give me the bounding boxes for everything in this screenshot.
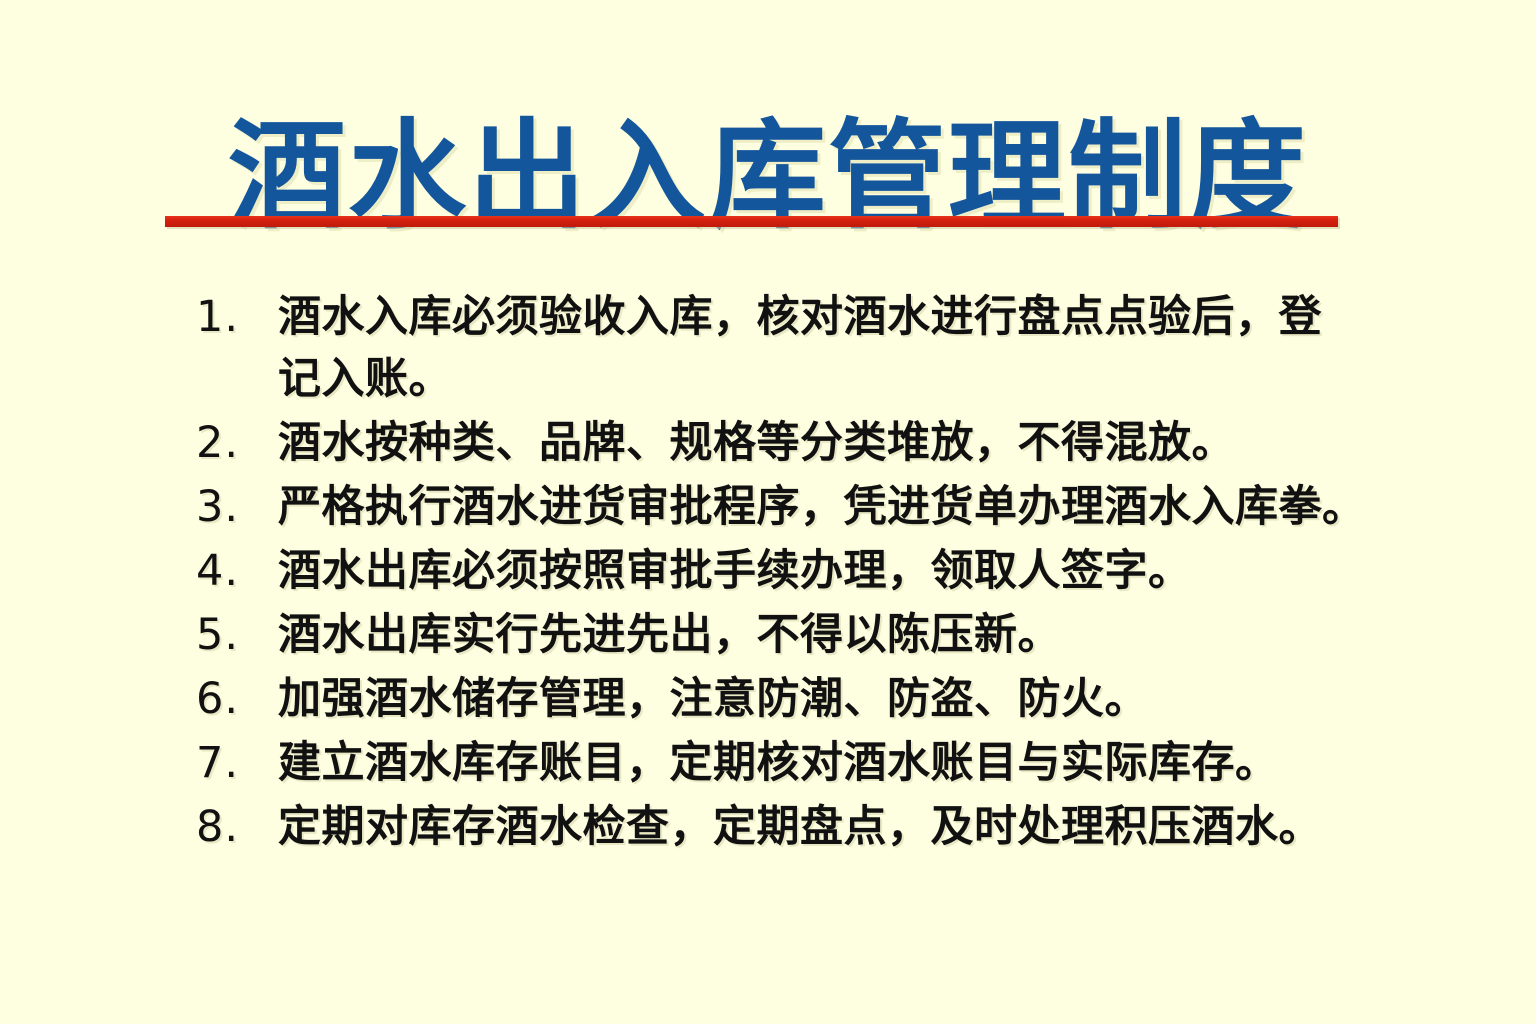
list-item: 8. 定期对库存酒水检查，定期盘点，及时处理积压酒水。: [196, 796, 1376, 858]
list-item: 4. 酒水出库必须按照审批手续办理，领取人签字。: [196, 540, 1376, 602]
title-divider: [165, 216, 1338, 229]
list-item: 2. 酒水按种类、品牌、规格等分类堆放，不得混放。: [196, 412, 1376, 474]
list-item-text: 建立酒水库存账目，定期核对酒水账目与实际库存。: [278, 732, 1376, 794]
list-item: 5. 酒水出库实行先进先出，不得以陈压新。: [196, 604, 1376, 666]
list-item: 1. 酒水入库必须验收入库，核对酒水进行盘点点验后，登记入账。: [196, 286, 1376, 410]
list-item-number: 3.: [196, 476, 278, 538]
list-item-text: 酒水入库必须验收入库，核对酒水进行盘点点验后，登记入账。: [278, 286, 1338, 410]
poster-root: 酒水出入库管理制度 1. 酒水入库必须验收入库，核对酒水进行盘点点验后，登记入账…: [0, 0, 1536, 1024]
list-item: 3. 严格执行酒水进货审批程序，凭进货单办理酒水入库拳。: [196, 476, 1376, 538]
list-item-text: 酒水按种类、品牌、规格等分类堆放，不得混放。: [278, 412, 1376, 474]
list-item-text: 酒水出库实行先进先出，不得以陈压新。: [278, 604, 1376, 666]
list-item-number: 8.: [196, 796, 278, 858]
list-item-text: 定期对库存酒水检查，定期盘点，及时处理积压酒水。: [278, 796, 1376, 858]
page-title-block: 酒水出入库管理制度: [0, 34, 1536, 320]
list-item: 6. 加强酒水储存管理，注意防潮、防盗、防火。: [196, 668, 1376, 730]
list-item-text: 严格执行酒水进货审批程序，凭进货单办理酒水入库拳。: [278, 476, 1376, 538]
red-rule-line: [165, 216, 1338, 227]
list-item-number: 2.: [196, 412, 278, 474]
list-item-number: 1.: [196, 286, 278, 348]
list-item: 7. 建立酒水库存账目，定期核对酒水账目与实际库存。: [196, 732, 1376, 794]
list-item-text: 酒水出库必须按照审批手续办理，领取人签字。: [278, 540, 1376, 602]
list-item-number: 4.: [196, 540, 278, 602]
rules-list: 1. 酒水入库必须验收入库，核对酒水进行盘点点验后，登记入账。 2. 酒水按种类…: [196, 286, 1376, 860]
list-item-number: 5.: [196, 604, 278, 666]
list-item-number: 7.: [196, 732, 278, 794]
list-item-number: 6.: [196, 668, 278, 730]
list-item-text: 加强酒水储存管理，注意防潮、防盗、防火。: [278, 668, 1376, 730]
